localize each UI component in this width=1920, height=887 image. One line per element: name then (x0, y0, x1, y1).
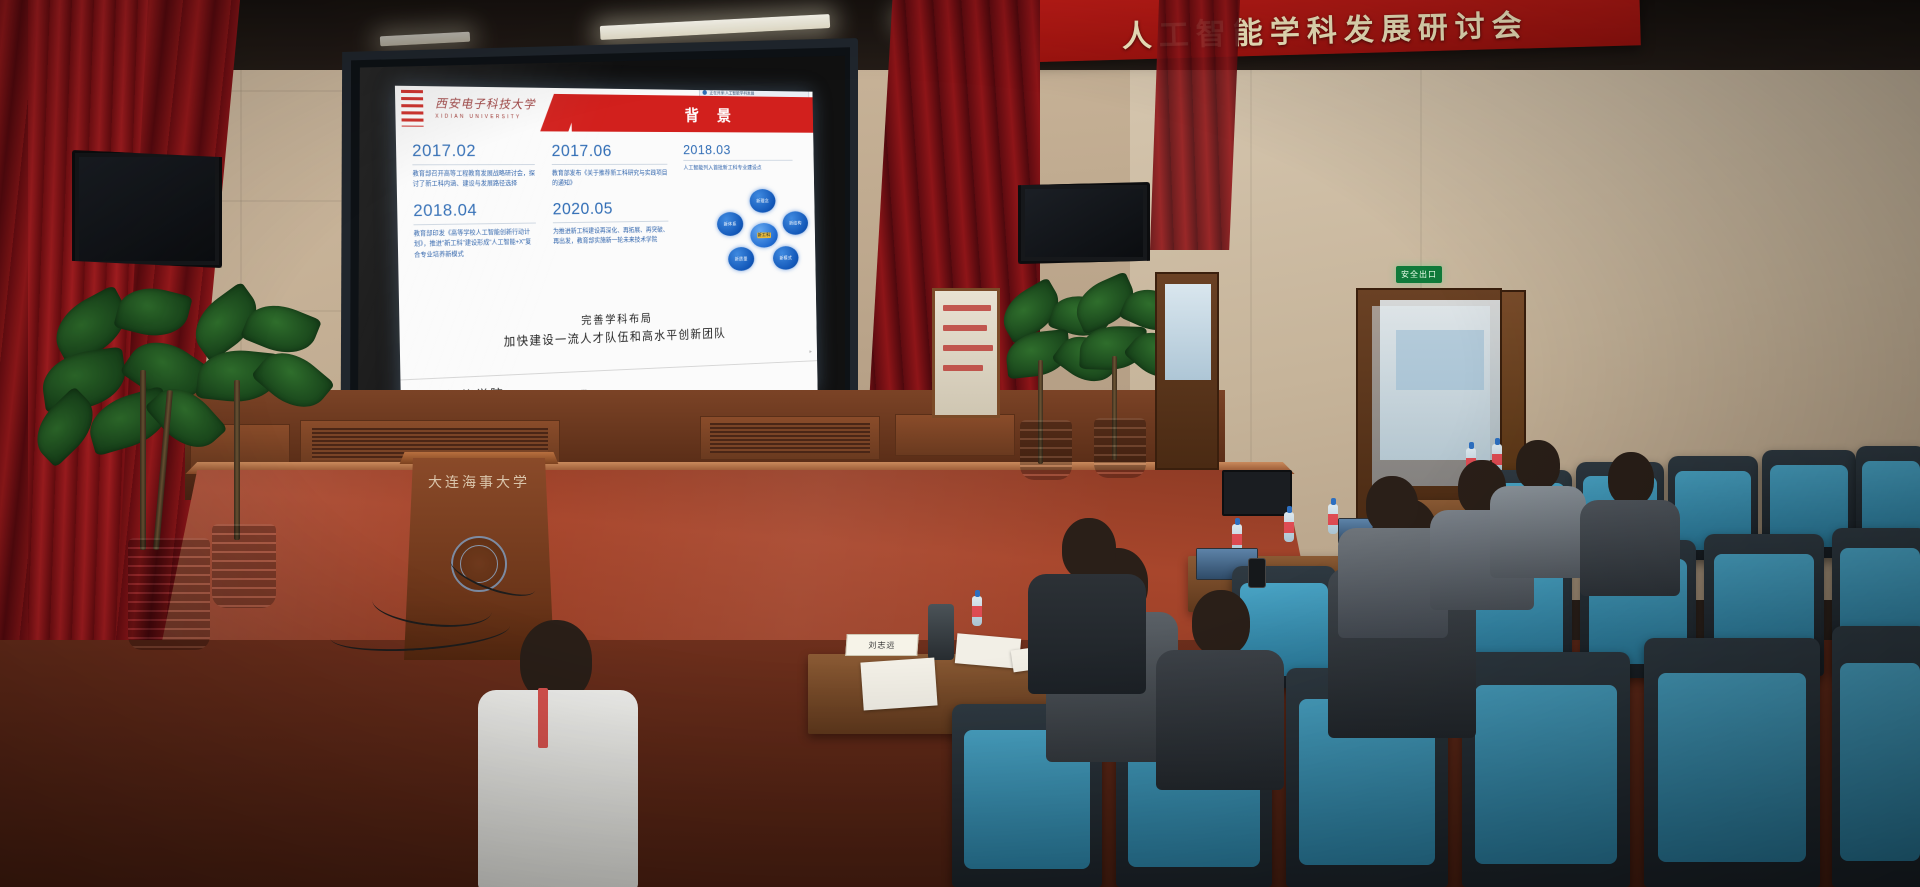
university-logo: 西安电子科技大学 XIDIAN UNIVERSITY (435, 94, 549, 127)
projection-screen[interactable]: 正在共享:人工智能学科发展 — □ × 西安电子科技大学 XIDIAN UNIV… (352, 52, 845, 422)
concept-bubble-diagram: 新理念 新体系 新结构 新工科 新质量 新模式 (715, 189, 812, 272)
lanyard (538, 688, 548, 748)
divider (412, 164, 534, 165)
timeline-item: 2017.06 教育部发布《关于推荐新工科研究与实践项目的通知》 (551, 141, 667, 189)
timeline-desc: 人工智能列入首批新工科专业建设点 (683, 164, 792, 173)
side-monitor-left (72, 150, 222, 268)
timeline-year: 2020.05 (552, 198, 668, 219)
side-door-left[interactable] (1155, 272, 1219, 470)
timeline-desc: 教育部印发《高等学校人工智能创新行动计划》，推进"新工科"建设形成"人工智能+X… (414, 227, 537, 261)
stripe-decoration-icon (401, 90, 424, 127)
smartphone[interactable] (1248, 558, 1266, 588)
water-bottle (972, 596, 982, 626)
corridor-reflection (1396, 330, 1484, 390)
bubble-new-quality: 新质量 (728, 247, 754, 271)
bubble-new-concept: 新理念 (750, 189, 776, 213)
water-bottle (1328, 504, 1338, 534)
timeline-item: 2017.02 教育部召开高等工程教育发展战略研讨会，探讨了新工科内涵、建设与发… (412, 141, 535, 191)
logo-english: XIDIAN UNIVERSITY (435, 114, 549, 121)
bubble-center-label: 新工科 (757, 232, 771, 238)
slide-header: 西安电子科技大学 XIDIAN UNIVERSITY 背 景 (395, 86, 813, 135)
divider (683, 160, 792, 161)
timeline-desc: 教育部召开高等工程教育发展战略研讨会，探讨了新工科内涵、建设与发展路径选择 (412, 169, 535, 190)
notice-board (932, 288, 1000, 418)
exit-sign: 安全出口 (1396, 266, 1442, 283)
divider (552, 164, 668, 165)
stage-curtain-far-right (1150, 0, 1240, 250)
timeline-item: 2020.05 为推进新工科建设再深化、再拓展、再突破、再出发，教育部实施新一轮… (552, 198, 669, 257)
wall-panel (895, 414, 1015, 456)
podium-engraved-text: 大连海事大学 (404, 472, 554, 492)
timeline-year: 2018.03 (683, 142, 793, 157)
bubble-new-engineering: 新工科 (750, 223, 778, 248)
notepad (860, 657, 937, 710)
timeline-year: 2017.02 (412, 141, 535, 161)
side-monitor-right (1018, 182, 1150, 264)
presentation-slide: 正在共享:人工智能学科发展 — □ × 西安电子科技大学 XIDIAN UNIV… (395, 86, 818, 414)
thermos (928, 604, 954, 660)
divider (414, 222, 536, 225)
timeline-item: 2018.03 人工智能列入首批新工科专业建设点 (683, 142, 793, 189)
bubble-new-system: 新体系 (717, 212, 744, 236)
bubble-new-mode: 新模式 (773, 246, 799, 270)
next-slide-arrow-icon[interactable]: ▸ (809, 348, 812, 355)
timeline-item: 2018.04 教育部印发《高等学校人工智能创新行动计划》，推进"新工科"建设形… (413, 199, 536, 260)
name-placard: 刘志远 (845, 634, 919, 656)
divider (553, 220, 669, 223)
logo-chinese: 西安电子科技大学 (435, 94, 549, 112)
seat (1832, 626, 1920, 887)
water-bottle (1284, 512, 1294, 542)
timeline-year: 2018.04 (413, 199, 536, 220)
seat (1644, 638, 1820, 887)
timeline-year: 2017.06 (551, 141, 667, 161)
speaker-grille (710, 423, 870, 453)
seat (1462, 652, 1630, 887)
timeline-row-1: 2017.02 教育部召开高等工程教育发展战略研讨会，探讨了新工科内涵、建设与发… (412, 141, 802, 191)
stage-monitor (1222, 470, 1292, 516)
slide-title: 背 景 (685, 102, 738, 125)
timeline-desc: 为推进新工科建设再深化、再拓展、再突破、再出发，教育部实施新一轮未来技术学院 (553, 225, 669, 247)
timeline-desc: 教育部发布《关于推荐新工科研究与实践项目的通知》 (552, 169, 668, 190)
bubble-new-structure: 新结构 (782, 211, 808, 235)
auditorium-photo: 人工智能学科发展研讨会 正在共享:人工智能学科发展 — □ × 西安电 (0, 0, 1920, 887)
slide-conclusion: 完善学科布局 加快建设一流人才队伍和高水平创新团队 (399, 304, 816, 354)
